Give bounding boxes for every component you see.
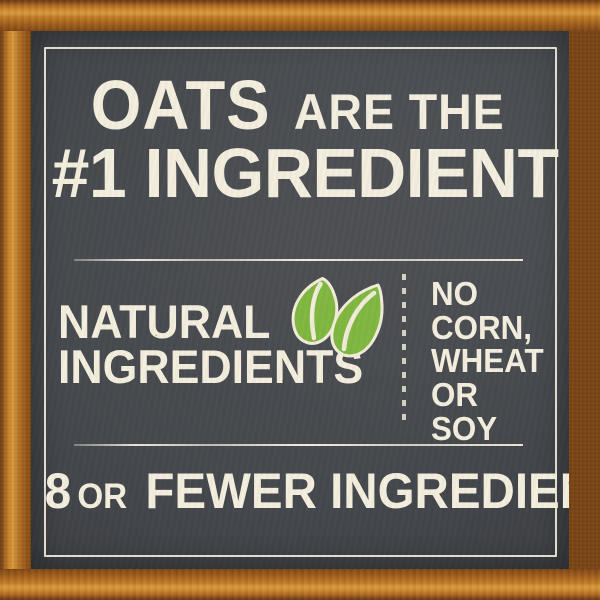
footer-connector: OR — [77, 477, 127, 517]
horizontal-divider-lower — [74, 444, 523, 446]
exclusion-line-1: NO CORN, — [431, 277, 545, 344]
chalkboard-poster: OATSARE THE #1 INGREDIENT NATURAL INGRED… — [0, 0, 600, 600]
footer-rest: FEWER INGREDIENTS — [146, 462, 569, 520]
wood-frame-top-rail — [0, 0, 600, 31]
headline-word-oats: OATS — [91, 73, 271, 139]
middle-section: NATURAL INGREDIENTS — [44, 269, 553, 441]
headline-word-are-the: ARE THE — [294, 89, 505, 136]
horizontal-divider-upper — [74, 259, 523, 261]
leaf-right-icon — [332, 285, 382, 356]
wood-frame-bottom-rail — [0, 569, 600, 600]
headline-line-1: OATSARE THE — [44, 73, 553, 139]
poster-content: OATSARE THE #1 INGREDIENT NATURAL INGRED… — [44, 47, 553, 553]
headline-line-2: #1 INGREDIENT — [52, 141, 546, 207]
chalkboard-surface: OATSARE THE #1 INGREDIENT NATURAL INGRED… — [31, 31, 569, 569]
fewer-ingredients-line: 8ORFEWER INGREDIENTS — [44, 462, 553, 520]
exclusion-line-2: WHEAT — [431, 344, 545, 378]
two-leaves-icon — [282, 275, 392, 361]
headline: OATSARE THE #1 INGREDIENT — [44, 73, 553, 207]
ingredient-count: 8 — [45, 462, 71, 520]
dotted-vertical-divider — [402, 274, 406, 422]
leaf-left-icon — [293, 279, 337, 344]
exclusion-line-3: OR SOY — [431, 378, 545, 445]
no-corn-wheat-soy-block: NO CORN, WHEAT OR SOY — [431, 277, 551, 445]
